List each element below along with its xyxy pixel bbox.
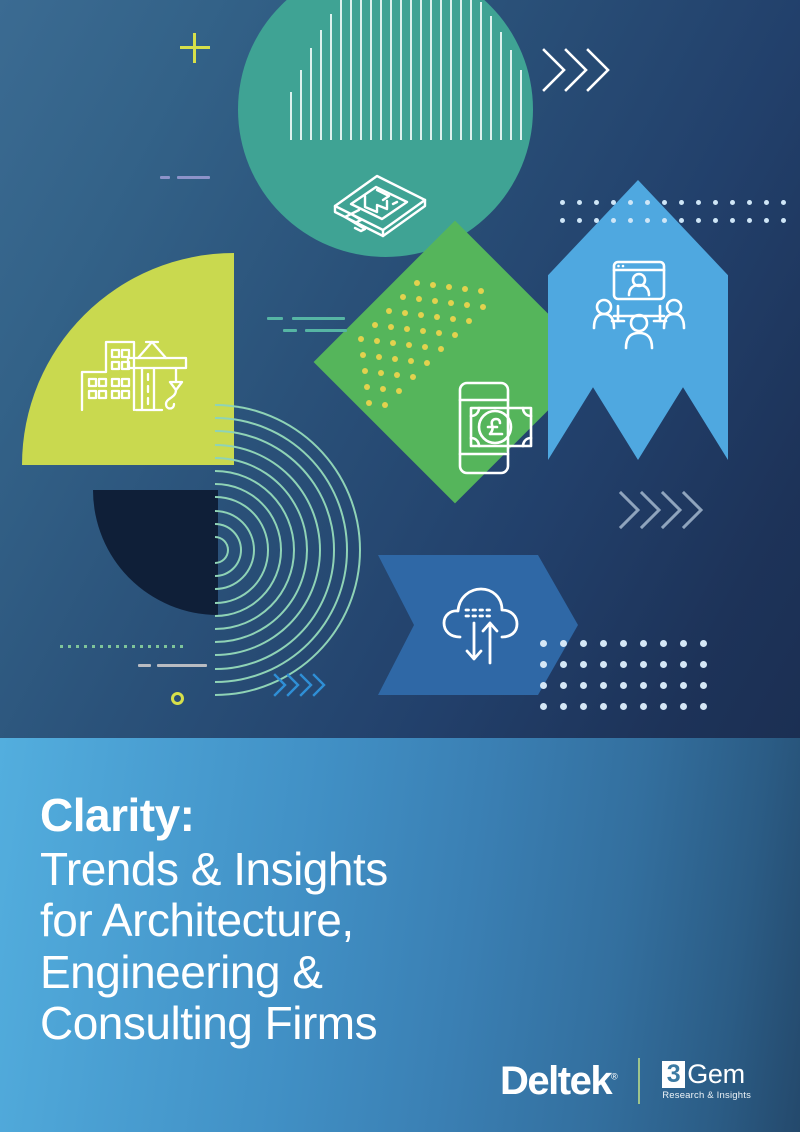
dot bbox=[124, 645, 127, 648]
stripe bbox=[510, 50, 512, 140]
dot bbox=[730, 218, 735, 223]
dot bbox=[640, 661, 647, 668]
dot bbox=[600, 640, 607, 647]
dot bbox=[446, 284, 452, 290]
dot bbox=[611, 218, 616, 223]
dot bbox=[380, 386, 386, 392]
dot bbox=[116, 645, 119, 648]
stripe bbox=[470, 0, 472, 140]
dot bbox=[394, 372, 400, 378]
dot bbox=[640, 640, 647, 647]
dot bbox=[172, 645, 175, 648]
dot bbox=[418, 312, 424, 318]
dot bbox=[392, 356, 398, 362]
banner-dot-rows-decoration bbox=[560, 200, 795, 230]
dot bbox=[560, 661, 567, 668]
dot bbox=[580, 640, 587, 647]
title-line-3: Engineering & bbox=[40, 947, 388, 999]
dot bbox=[434, 314, 440, 320]
dotted-line-decoration bbox=[60, 645, 185, 649]
dot bbox=[640, 682, 647, 689]
dot bbox=[424, 360, 430, 366]
dot bbox=[700, 640, 707, 647]
dot bbox=[402, 310, 408, 316]
dot bbox=[478, 288, 484, 294]
dot bbox=[560, 703, 567, 710]
dot bbox=[680, 661, 687, 668]
dot bbox=[611, 200, 616, 205]
dot bbox=[680, 703, 687, 710]
dash-grey-short bbox=[138, 664, 151, 667]
dash-teal-b bbox=[292, 317, 345, 320]
dot bbox=[430, 282, 436, 288]
dot bbox=[400, 294, 406, 300]
dot bbox=[620, 703, 627, 710]
dot bbox=[580, 703, 587, 710]
dot bbox=[645, 200, 650, 205]
page-title: Clarity: Trends & Insights for Architect… bbox=[40, 790, 388, 1050]
report-cover-page: Clarity: Trends & Insights for Architect… bbox=[0, 0, 800, 1132]
dash-teal-a bbox=[267, 317, 283, 320]
dot bbox=[580, 661, 587, 668]
dot bbox=[700, 682, 707, 689]
dot bbox=[696, 200, 701, 205]
title-line-2: for Architecture, bbox=[40, 895, 388, 947]
dot bbox=[781, 218, 786, 223]
blueprint-icon bbox=[325, 160, 435, 250]
hero-artwork-panel bbox=[0, 0, 800, 738]
stripe bbox=[360, 0, 362, 140]
dot bbox=[360, 352, 366, 358]
dot bbox=[580, 682, 587, 689]
chevron-group-top-right-icon bbox=[540, 40, 620, 100]
dot bbox=[364, 384, 370, 390]
dot bbox=[464, 302, 470, 308]
dot bbox=[660, 703, 667, 710]
chevron-group-bottom-left-icon bbox=[273, 670, 328, 700]
dot bbox=[620, 682, 627, 689]
dot bbox=[164, 645, 167, 648]
dot bbox=[140, 645, 143, 648]
3gem-wordmark: Gem bbox=[687, 1061, 745, 1088]
dot bbox=[84, 645, 87, 648]
dot bbox=[422, 344, 428, 350]
dot bbox=[781, 200, 786, 205]
stripe bbox=[370, 0, 372, 140]
dot bbox=[466, 318, 472, 324]
dot bbox=[450, 316, 456, 322]
dot bbox=[560, 682, 567, 689]
dot bbox=[180, 645, 183, 648]
dot bbox=[100, 645, 103, 648]
dot bbox=[420, 328, 426, 334]
concentric-rings-decoration bbox=[215, 400, 365, 700]
dot bbox=[148, 645, 151, 648]
stripe bbox=[290, 92, 292, 140]
dot bbox=[540, 703, 547, 710]
dot bbox=[680, 682, 687, 689]
chevron-group-mid-right-icon bbox=[618, 485, 708, 535]
dot bbox=[390, 340, 396, 346]
dot bbox=[396, 388, 402, 394]
dot bbox=[577, 218, 582, 223]
dot bbox=[68, 645, 71, 648]
plus-mark-icon bbox=[180, 33, 210, 63]
dot bbox=[764, 218, 769, 223]
dot bbox=[620, 661, 627, 668]
cloud-sync-icon bbox=[438, 585, 523, 667]
title-line-4: Consulting Firms bbox=[40, 998, 388, 1050]
dot bbox=[540, 682, 547, 689]
dot bbox=[600, 682, 607, 689]
dot bbox=[480, 304, 486, 310]
dot bbox=[560, 200, 565, 205]
dash-grey-long bbox=[157, 664, 207, 667]
dot bbox=[660, 661, 667, 668]
dot bbox=[452, 332, 458, 338]
stripe bbox=[430, 0, 432, 140]
dot bbox=[376, 354, 382, 360]
dot bbox=[628, 200, 633, 205]
dot bbox=[713, 200, 718, 205]
stripe bbox=[390, 0, 392, 140]
stripe bbox=[440, 0, 442, 140]
dot bbox=[679, 218, 684, 223]
dash-teal-d bbox=[305, 329, 347, 332]
dot bbox=[560, 640, 567, 647]
dot bbox=[60, 645, 63, 648]
title-line-1: Trends & Insights bbox=[40, 844, 388, 896]
stripe bbox=[420, 0, 422, 140]
dot bbox=[432, 298, 438, 304]
dot bbox=[660, 682, 667, 689]
dot bbox=[156, 645, 159, 648]
dot bbox=[410, 374, 416, 380]
dot bbox=[92, 645, 95, 648]
dot bbox=[700, 703, 707, 710]
dot-grid-bottom-right-decoration bbox=[540, 640, 730, 725]
dash-purple-short bbox=[160, 176, 170, 179]
stripe bbox=[310, 48, 312, 140]
stripe bbox=[330, 14, 332, 140]
video-meeting-icon bbox=[588, 258, 688, 353]
dash-purple-long bbox=[177, 176, 210, 179]
stripe bbox=[300, 70, 302, 140]
ring bbox=[215, 404, 361, 696]
mobile-payment-icon bbox=[455, 378, 545, 478]
deltek-trademark-symbol: ® bbox=[611, 1072, 616, 1082]
logo-divider bbox=[638, 1058, 640, 1104]
dot bbox=[662, 200, 667, 205]
dot bbox=[386, 308, 392, 314]
dot bbox=[374, 338, 380, 344]
dot bbox=[600, 703, 607, 710]
dot bbox=[594, 200, 599, 205]
dot bbox=[540, 640, 547, 647]
dot bbox=[713, 218, 718, 223]
dot bbox=[660, 640, 667, 647]
stripe bbox=[500, 32, 502, 140]
dot bbox=[628, 218, 633, 223]
dot bbox=[680, 640, 687, 647]
dot bbox=[378, 370, 384, 376]
dot bbox=[540, 661, 547, 668]
dot bbox=[414, 280, 420, 286]
dot bbox=[600, 661, 607, 668]
stripe bbox=[350, 0, 352, 140]
dot bbox=[696, 218, 701, 223]
construction-crane-icon bbox=[76, 328, 196, 418]
dot bbox=[747, 200, 752, 205]
dot bbox=[679, 200, 684, 205]
dot bbox=[700, 661, 707, 668]
3gem-tagline: Research & Insights bbox=[662, 1091, 751, 1101]
dot bbox=[408, 358, 414, 364]
dot bbox=[438, 346, 444, 352]
3gem-mark: 3 bbox=[662, 1061, 685, 1088]
stripe bbox=[400, 0, 402, 140]
dot bbox=[76, 645, 79, 648]
dot bbox=[416, 296, 422, 302]
stripe bbox=[520, 70, 522, 140]
stripe bbox=[410, 0, 412, 140]
dot bbox=[132, 645, 135, 648]
dot bbox=[462, 286, 468, 292]
dot bbox=[382, 402, 388, 408]
stripe bbox=[480, 2, 482, 140]
dot bbox=[730, 200, 735, 205]
dot bbox=[372, 322, 378, 328]
dot bbox=[406, 342, 412, 348]
3gem-logo: 3 Gem Research & Insights bbox=[662, 1061, 751, 1101]
dot bbox=[388, 324, 394, 330]
dot bbox=[747, 218, 752, 223]
title-lead: Clarity: bbox=[40, 790, 388, 842]
dot bbox=[108, 645, 111, 648]
dot bbox=[560, 218, 565, 223]
dot bbox=[362, 368, 368, 374]
stripe bbox=[450, 0, 452, 140]
logo-lockup: Deltek® 3 Gem Research & Insights bbox=[500, 1055, 751, 1107]
navy-quarter-circle-shape bbox=[93, 490, 218, 615]
deltek-logo: Deltek® bbox=[500, 1061, 616, 1101]
dot bbox=[404, 326, 410, 332]
dot bbox=[577, 200, 582, 205]
dot bbox=[366, 400, 372, 406]
dot bbox=[640, 703, 647, 710]
stripe bbox=[340, 0, 342, 140]
dot bbox=[594, 218, 599, 223]
dot bbox=[645, 218, 650, 223]
dot bbox=[358, 336, 364, 342]
dash-teal-c bbox=[283, 329, 297, 332]
dot bbox=[662, 218, 667, 223]
stripe bbox=[490, 16, 492, 140]
stripe bbox=[460, 0, 462, 140]
stripe bbox=[320, 30, 322, 140]
dot bbox=[764, 200, 769, 205]
dot bbox=[448, 300, 454, 306]
yellow-ring-decoration bbox=[171, 692, 184, 705]
dot bbox=[436, 330, 442, 336]
3gem-wordmark-row: 3 Gem bbox=[662, 1061, 751, 1088]
stripe bbox=[380, 0, 382, 140]
dot bbox=[620, 640, 627, 647]
deltek-wordmark: Deltek bbox=[500, 1059, 611, 1103]
